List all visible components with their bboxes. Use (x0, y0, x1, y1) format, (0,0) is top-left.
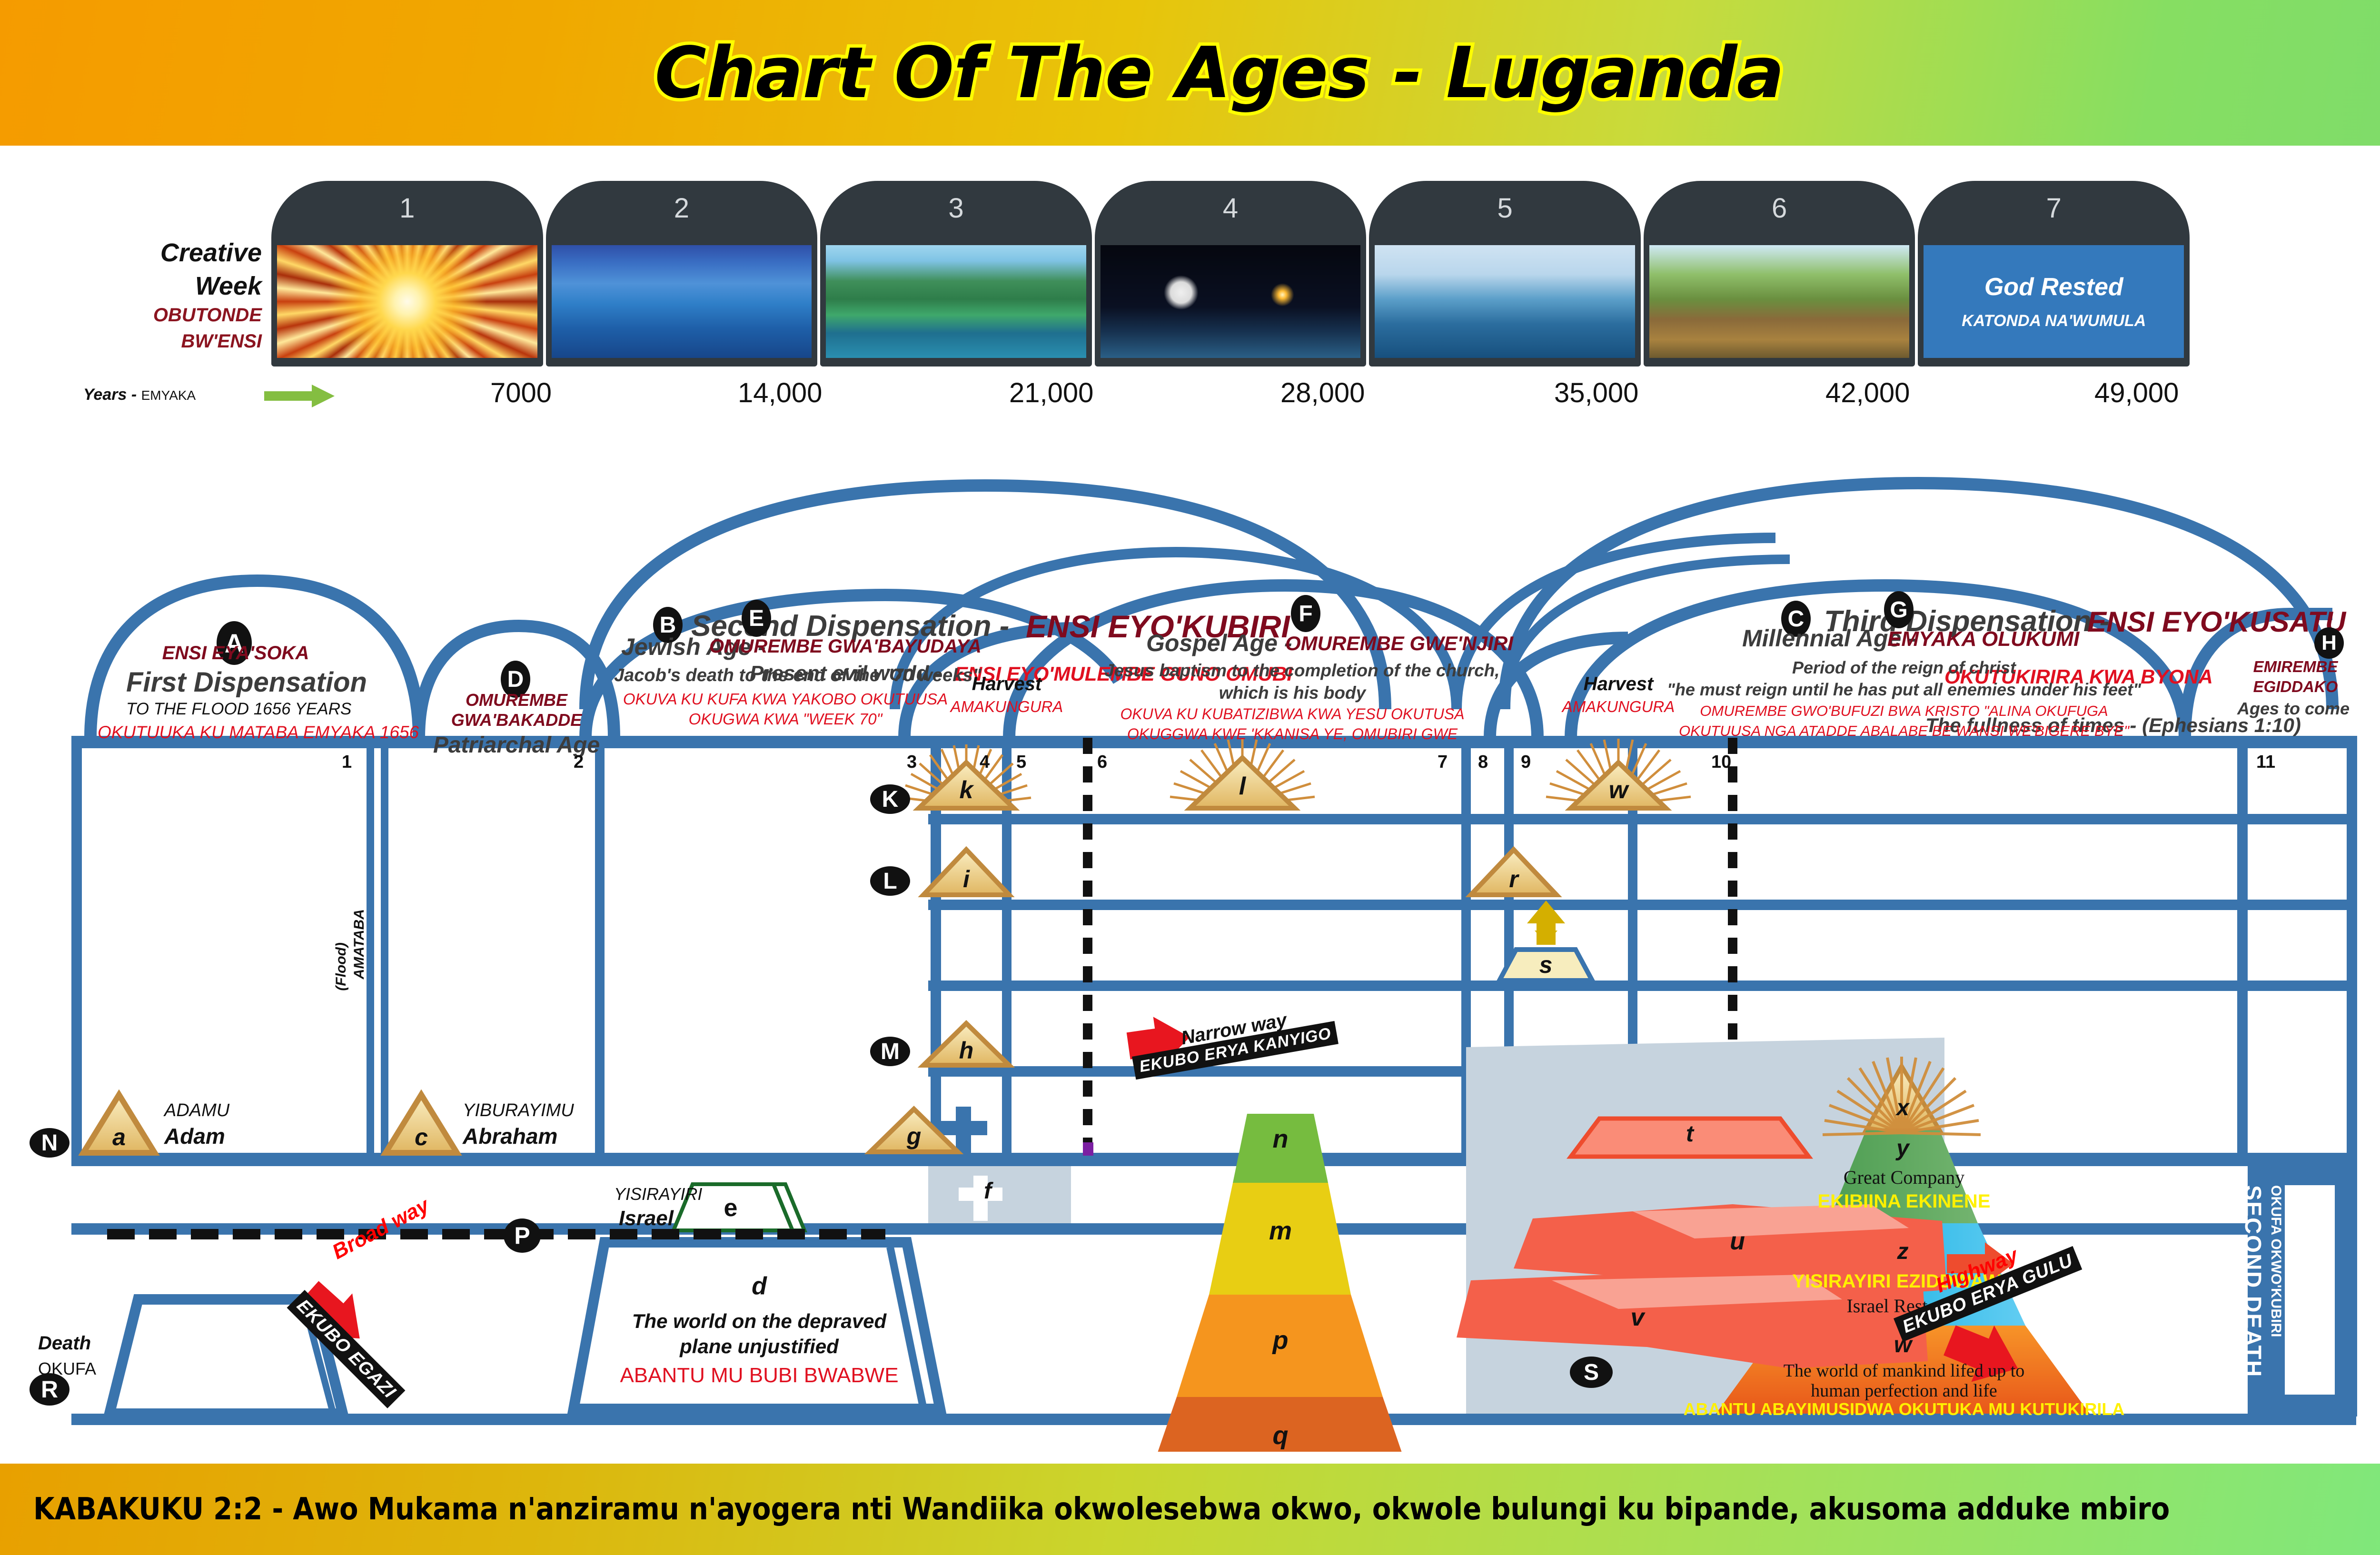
years-arrow-icon (264, 384, 335, 408)
great-company-lg: EKIBIINA EKINENE (1799, 1191, 2009, 1212)
creative-day-2[interactable]: 2 (546, 181, 818, 366)
badge-age-f: F (1291, 595, 1320, 632)
marker-a-letter: a (83, 1123, 155, 1151)
mankind-lifted-en-1: The world of mankind lifed up to (1704, 1360, 2104, 1381)
god-rested-title-en: God Rested (1984, 273, 2123, 301)
age-a-sub-lg: OKUTUUKA KU MATABA EMYAKA 1656 (98, 723, 374, 743)
center-pyramid-layer-q: q (1145, 1421, 1416, 1450)
year-tick: 21,000 (1009, 377, 1093, 409)
center-pyramid-layer-m: m (1209, 1216, 1352, 1246)
animals-man-image (1649, 245, 1910, 358)
marker-k-letter: k (919, 776, 1014, 804)
badge-age-g: G (1884, 591, 1914, 628)
badge-row-n: N (30, 1128, 69, 1158)
land-vegetation-image (826, 245, 1086, 358)
column-number-3: 3 (907, 752, 917, 773)
age-g-sub-lg-2: OKUTUUSA NGA ATADDE ABALABE BE WANSI WE'… (1628, 723, 2180, 740)
marker-c-title-lg: YIBURAYIMU (463, 1100, 574, 1121)
creative-day-4[interactable]: 4 (1095, 181, 1367, 366)
dispensation-c-title-lg: ENSI EYO'KUSATU (2087, 605, 2346, 638)
moon-sun-image (1101, 245, 1361, 358)
marker-i-letter: i (923, 865, 1009, 893)
ocean-water-image (552, 245, 812, 358)
harvest-1-title-en: Harvest (940, 674, 1073, 695)
death-label-lg: OKUFA (38, 1359, 96, 1379)
column-number-1: 1 (342, 752, 352, 773)
marker-h-letter: h (923, 1037, 1009, 1064)
second-death-en: SECOND DEATH (2237, 1185, 2266, 1395)
marker-s-letter: s (1499, 951, 1592, 979)
israel-label-en: Israel (619, 1207, 674, 1230)
age-e-sub-en: Jacob's death to the end of the "70 week… (614, 665, 957, 686)
age-h-title-lg-1: EMIREMBE (2244, 658, 2347, 676)
marker-w-sun-letter: w (1571, 776, 1666, 804)
year-tick: 7000 (490, 377, 552, 409)
second-death-lg: OKUFA OKWO'KUBIRI (2262, 1185, 2284, 1395)
age-g-sub-lg-1: OMUREMBE GWO'BUFUZI BWA KRISTO "ALINA OK… (1637, 703, 2171, 720)
age-f-title-en: Gospel Age - (1146, 629, 1292, 657)
year-tick: 42,000 (1825, 377, 1910, 409)
creative-week-label-en-2: Week (71, 271, 262, 301)
age-d-title-lg-1: OMUREMBE (428, 690, 605, 710)
depraved-plane-en-2: plane unjustified (595, 1335, 923, 1358)
age-g-title-lg: EMYAKA OLUKUMI (1887, 627, 2079, 651)
creative-day-6[interactable]: 6 (1644, 181, 1915, 366)
marker-t-letter: t (1571, 1121, 1809, 1147)
marker-c-title-en: Abraham (463, 1123, 557, 1149)
marker-e-plane-letter: e (678, 1194, 783, 1222)
marker-v-letter: v (1537, 1303, 1737, 1332)
right-pyramid-layer-x: x (1866, 1095, 1940, 1121)
age-a-title-en: First Dispensation (126, 666, 345, 698)
birds-fish-image (1375, 245, 1635, 358)
age-f-sub-en-1: Jesus baptism to the completion of the c… (1104, 661, 1480, 681)
age-a-title-lg: ENSI EYA'SOKA (136, 643, 336, 664)
creative-day-1[interactable]: 1 (271, 181, 543, 366)
day-number: 2 (546, 192, 818, 224)
marker-a-title-lg: ADAMU (164, 1100, 229, 1121)
column-number-11: 11 (2256, 752, 2275, 773)
creative-week-label-lg-2: BW'ENSI (71, 331, 262, 352)
creative-week-panels: 1 2 3 4 5 6 7 God Rested K (271, 181, 2190, 366)
column-number-9: 9 (1521, 752, 1531, 773)
creative-week-label-lg-1: OBUTONDE (71, 305, 262, 326)
center-pyramid-layer-n: n (1233, 1124, 1328, 1154)
badge-row-k: K (870, 784, 910, 814)
badge-row-m: M (870, 1037, 910, 1066)
age-h-title-en: Ages to come (2237, 699, 2347, 719)
age-e-title-lg: OMUREMBE GWA'BAYUDAYA (709, 636, 982, 657)
age-f-sub-lg-1: OKUVA KU KUBATIZIBWA KWA YESU OKUTUSA (1104, 705, 1480, 723)
age-f-title-lg: OMUREMBE GWE'NJIRI (1285, 632, 1513, 655)
creative-day-3[interactable]: 3 (820, 181, 1092, 366)
marker-r-letter: r (1471, 865, 1557, 893)
light-burst-image (277, 245, 537, 358)
badge-age-e: E (742, 600, 771, 637)
depraved-plane-en-1: The world on the depraved (595, 1310, 923, 1333)
creative-week-section: Creative Week OBUTONDE BW'ENSI 1 2 3 4 5… (0, 157, 2380, 443)
mankind-lifted-lg: ABANTU ABAYIMUSIDWA OKUTUKA MU KUTUKIRIL… (1652, 1399, 2156, 1419)
ages-diagram: B Second Dispensation - ENSI EYO'KUBIRI … (0, 443, 2380, 1452)
column-number-6: 6 (1097, 752, 1107, 773)
day-number: 5 (1369, 192, 1641, 224)
page-title: Chart Of The Ages - Luganda (654, 32, 1784, 114)
age-f-sub-lg-2: OKUGGWA KWE 'KKANISA YE, OMUBIRI GWE (1104, 725, 1480, 743)
day-number: 6 (1644, 192, 1915, 224)
day-number: 3 (820, 192, 1092, 224)
column-number-5: 5 (1016, 752, 1026, 773)
column-number-2: 2 (574, 752, 584, 773)
death-label-en: Death (38, 1333, 91, 1354)
creative-day-5[interactable]: 5 (1369, 181, 1641, 366)
age-d-title-lg-2: GWA'BAKADDE (428, 710, 605, 730)
flood-label-lg: AMATABA (351, 909, 367, 979)
badge-age-h: H (2314, 627, 2344, 659)
years-label-en: Years - (83, 386, 137, 404)
right-pyramid-layer-y: y (1828, 1135, 1978, 1161)
footer-banner: KABAKUKU 2:2 - Awo Mukama n'anziramu n'a… (0, 1464, 2380, 1555)
marker-g-letter: g (870, 1122, 958, 1150)
marker-a-title-en: Adam (164, 1123, 225, 1149)
age-h-title-lg-2: EGIDDAKO (2244, 678, 2347, 696)
marker-c-letter: c (386, 1123, 457, 1151)
years-axis: Years - EMYAKA 7000 14,000 21,000 28,000… (0, 377, 2380, 420)
age-e-sub-lg-1: OKUVA KU KUFA KWA YAKOBO OKUTUUSA (614, 690, 957, 708)
great-company-en: Great Company (1804, 1166, 2004, 1189)
column-number-7: 7 (1438, 752, 1448, 773)
years-axis-label: Years - EMYAKA (83, 386, 196, 404)
harvest-1-title-lg: AMAKUNGURA (931, 698, 1083, 716)
god-rested-title-lg: KATONDA NA'WUMULA (1962, 312, 2146, 330)
badge-row-l: L (870, 866, 910, 896)
badge-s: S (1570, 1357, 1613, 1388)
column-number-10: 10 (1711, 752, 1731, 773)
day-number: 1 (271, 192, 543, 224)
center-pyramid-layer-p: p (1176, 1326, 1385, 1355)
column-number-4: 4 (980, 752, 990, 773)
age-g-sub-en-1: Period of the reign of christ (1695, 658, 2113, 678)
mankind-lifted-en-2: human perfection and life (1704, 1380, 2104, 1401)
year-tick: 35,000 (1554, 377, 1638, 409)
badge-p: P (504, 1218, 541, 1253)
day-number: 7 (1918, 192, 2190, 224)
column-number-8: 8 (1478, 752, 1488, 773)
year-tick: 49,000 (2094, 377, 2179, 409)
marker-f-plane-letter: f (933, 1178, 1042, 1204)
footer-scripture-text: KABAKUKU 2:2 - Awo Mukama n'anziramu n'a… (0, 1492, 2170, 1527)
marker-l-letter: l (1190, 772, 1295, 801)
creative-day-7[interactable]: 7 God Rested KATONDA NA'WUMULA (1918, 181, 2190, 366)
flood-label-en: (Flood) (333, 942, 349, 991)
day-number: 4 (1095, 192, 1367, 224)
year-tick: 28,000 (1280, 377, 1365, 409)
age-g-sub-en-2: "he must reign until he has put all enem… (1656, 680, 2152, 700)
depraved-plane-lg: ABANTU MU BUBI BWABWE (585, 1364, 933, 1387)
creative-week-label-en-1: Creative (71, 238, 262, 267)
age-f-sub-en-2: which is his body (1104, 683, 1480, 703)
header-banner: Chart Of The Ages - Luganda (0, 0, 2380, 146)
marker-d-letter: d (605, 1272, 914, 1300)
age-e-sub-lg-2: OKUGWA KWA "WEEK 70" (614, 710, 957, 728)
god-rested-panel: God Rested KATONDA NA'WUMULA (1924, 245, 2184, 358)
age-a-sub-en: TO THE FLOOD 1656 YEARS (126, 700, 345, 719)
year-tick: 14,000 (738, 377, 822, 409)
years-label-lg: EMYAKA (141, 388, 196, 403)
